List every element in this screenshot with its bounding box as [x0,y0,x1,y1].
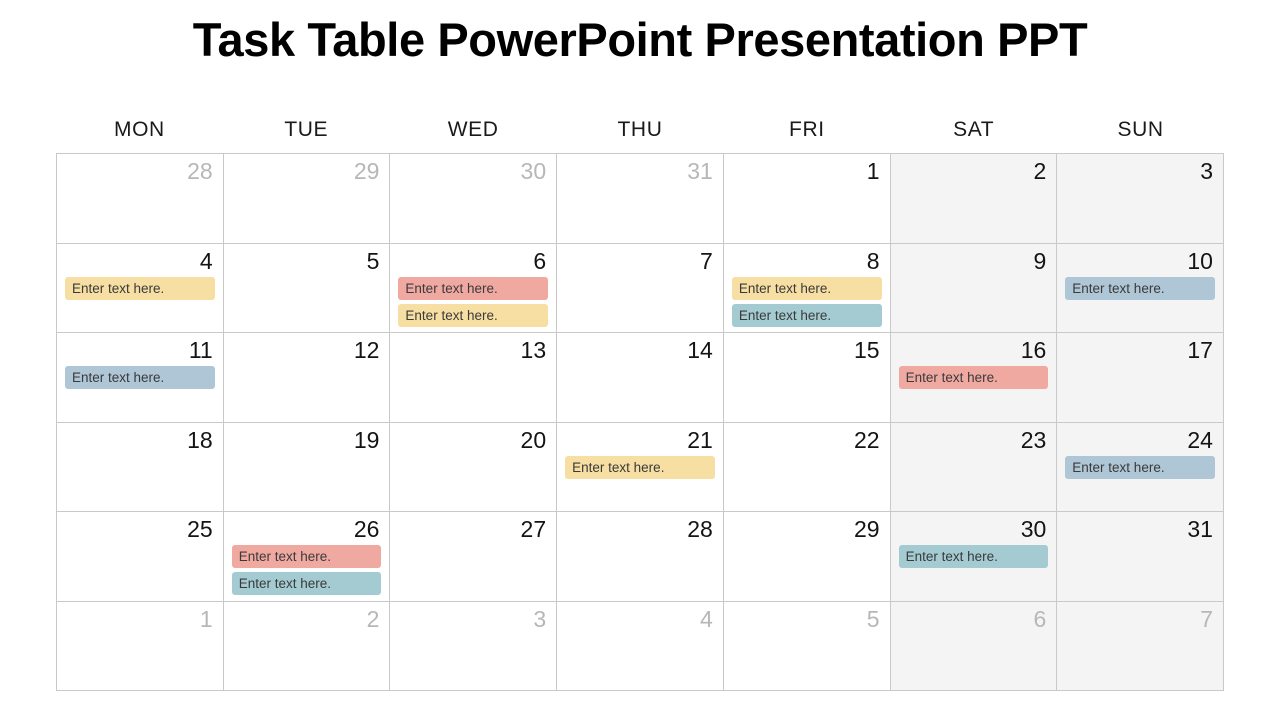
day-number: 3 [396,606,550,632]
day-number: 13 [396,337,550,363]
day-cell[interactable]: 4 [557,602,724,692]
day-cell[interactable]: 13 [390,333,557,423]
day-cell[interactable]: 11Enter text here. [57,333,224,423]
day-number: 11 [63,337,217,363]
event-chip[interactable]: Enter text here. [65,366,215,389]
event-list: Enter text here. [897,545,1051,568]
day-number: 12 [230,337,384,363]
day-number: 20 [396,427,550,453]
day-number: 21 [563,427,717,453]
day-number: 27 [396,516,550,542]
day-cell[interactable]: 5 [724,602,891,692]
day-number: 2 [897,158,1051,184]
day-cell[interactable]: 28 [57,154,224,244]
day-cell[interactable]: 7 [557,244,724,334]
weekday-header-fri: FRI [723,108,890,152]
weekday-header-tue: TUE [223,108,390,152]
event-chip[interactable]: Enter text here. [732,304,882,327]
day-cell[interactable]: 30 [390,154,557,244]
day-number: 25 [63,516,217,542]
weekday-header-wed: WED [390,108,557,152]
event-chip[interactable]: Enter text here. [899,366,1049,389]
weekday-header-thu: THU [557,108,724,152]
event-list: Enter text here.Enter text here. [396,277,550,327]
day-number: 8 [730,248,884,274]
event-chip[interactable]: Enter text here. [1065,456,1215,479]
day-number: 24 [1063,427,1217,453]
day-cell[interactable]: 27 [390,512,557,602]
day-number: 30 [897,516,1051,542]
day-number: 18 [63,427,217,453]
day-cell[interactable]: 10Enter text here. [1057,244,1224,334]
day-cell[interactable]: 18 [57,423,224,513]
day-cell[interactable]: 1 [57,602,224,692]
day-cell[interactable]: 23 [891,423,1058,513]
day-cell[interactable]: 29 [224,154,391,244]
day-number: 15 [730,337,884,363]
day-cell[interactable]: 25 [57,512,224,602]
day-number: 6 [897,606,1051,632]
day-number: 7 [563,248,717,274]
day-cell[interactable]: 6Enter text here.Enter text here. [390,244,557,334]
day-cell[interactable]: 30Enter text here. [891,512,1058,602]
event-list: Enter text here.Enter text here. [230,545,384,595]
day-cell[interactable]: 4Enter text here. [57,244,224,334]
weekday-header-row: MONTUEWEDTHUFRISATSUN [56,108,1224,152]
event-list: Enter text here. [63,366,217,389]
day-cell[interactable]: 24Enter text here. [1057,423,1224,513]
day-number: 14 [563,337,717,363]
event-list: Enter text here. [1063,456,1217,479]
event-list: Enter text here. [1063,277,1217,300]
day-number: 16 [897,337,1051,363]
weekday-header-sun: SUN [1057,108,1224,152]
day-cell[interactable]: 6 [891,602,1058,692]
day-number: 30 [396,158,550,184]
day-cell[interactable]: 14 [557,333,724,423]
day-cell[interactable]: 29 [724,512,891,602]
day-cell[interactable]: 26Enter text here.Enter text here. [224,512,391,602]
day-cell[interactable]: 3 [1057,154,1224,244]
day-cell[interactable]: 19 [224,423,391,513]
weekday-header-mon: MON [56,108,223,152]
day-number: 5 [230,248,384,274]
day-number: 23 [897,427,1051,453]
day-number: 7 [1063,606,1217,632]
day-cell[interactable]: 7 [1057,602,1224,692]
day-cell[interactable]: 21Enter text here. [557,423,724,513]
day-number: 1 [730,158,884,184]
day-number: 5 [730,606,884,632]
day-number: 17 [1063,337,1217,363]
day-number: 2 [230,606,384,632]
event-chip[interactable]: Enter text here. [398,277,548,300]
day-number: 22 [730,427,884,453]
day-number: 9 [897,248,1051,274]
day-number: 6 [396,248,550,274]
day-cell[interactable]: 9 [891,244,1058,334]
day-number: 31 [1063,516,1217,542]
day-number: 29 [730,516,884,542]
day-number: 28 [563,516,717,542]
event-chip[interactable]: Enter text here. [65,277,215,300]
calendar-slide: Task Table PowerPoint Presentation PPT M… [0,0,1280,720]
event-chip[interactable]: Enter text here. [232,572,382,595]
day-cell[interactable]: 2 [891,154,1058,244]
day-number: 28 [63,158,217,184]
day-cell[interactable]: 8Enter text here.Enter text here. [724,244,891,334]
day-cell[interactable]: 31 [557,154,724,244]
day-number: 19 [230,427,384,453]
event-list: Enter text here.Enter text here. [730,277,884,327]
page-title: Task Table PowerPoint Presentation PPT [0,12,1280,67]
event-chip[interactable]: Enter text here. [899,545,1049,568]
day-number: 1 [63,606,217,632]
day-number: 29 [230,158,384,184]
day-cell[interactable]: 5 [224,244,391,334]
day-cell[interactable]: 12 [224,333,391,423]
day-cell[interactable]: 31 [1057,512,1224,602]
day-cell[interactable]: 17 [1057,333,1224,423]
event-list: Enter text here. [563,456,717,479]
day-number: 3 [1063,158,1217,184]
day-number: 4 [563,606,717,632]
day-cell[interactable]: 16Enter text here. [891,333,1058,423]
event-chip[interactable]: Enter text here. [398,304,548,327]
event-list: Enter text here. [897,366,1051,389]
day-cell[interactable]: 15 [724,333,891,423]
event-chip[interactable]: Enter text here. [732,277,882,300]
day-cell[interactable]: 2 [224,602,391,692]
day-cell[interactable]: 22 [724,423,891,513]
day-cell[interactable]: 1 [724,154,891,244]
event-chip[interactable]: Enter text here. [232,545,382,568]
event-list: Enter text here. [63,277,217,300]
event-chip[interactable]: Enter text here. [1065,277,1215,300]
event-chip[interactable]: Enter text here. [565,456,715,479]
day-number: 4 [63,248,217,274]
day-number: 10 [1063,248,1217,274]
day-number: 31 [563,158,717,184]
day-cell[interactable]: 20 [390,423,557,513]
calendar-grid: 282930311234Enter text here.56Enter text… [56,153,1224,691]
day-number: 26 [230,516,384,542]
day-cell[interactable]: 3 [390,602,557,692]
day-cell[interactable]: 28 [557,512,724,602]
weekday-header-sat: SAT [890,108,1057,152]
